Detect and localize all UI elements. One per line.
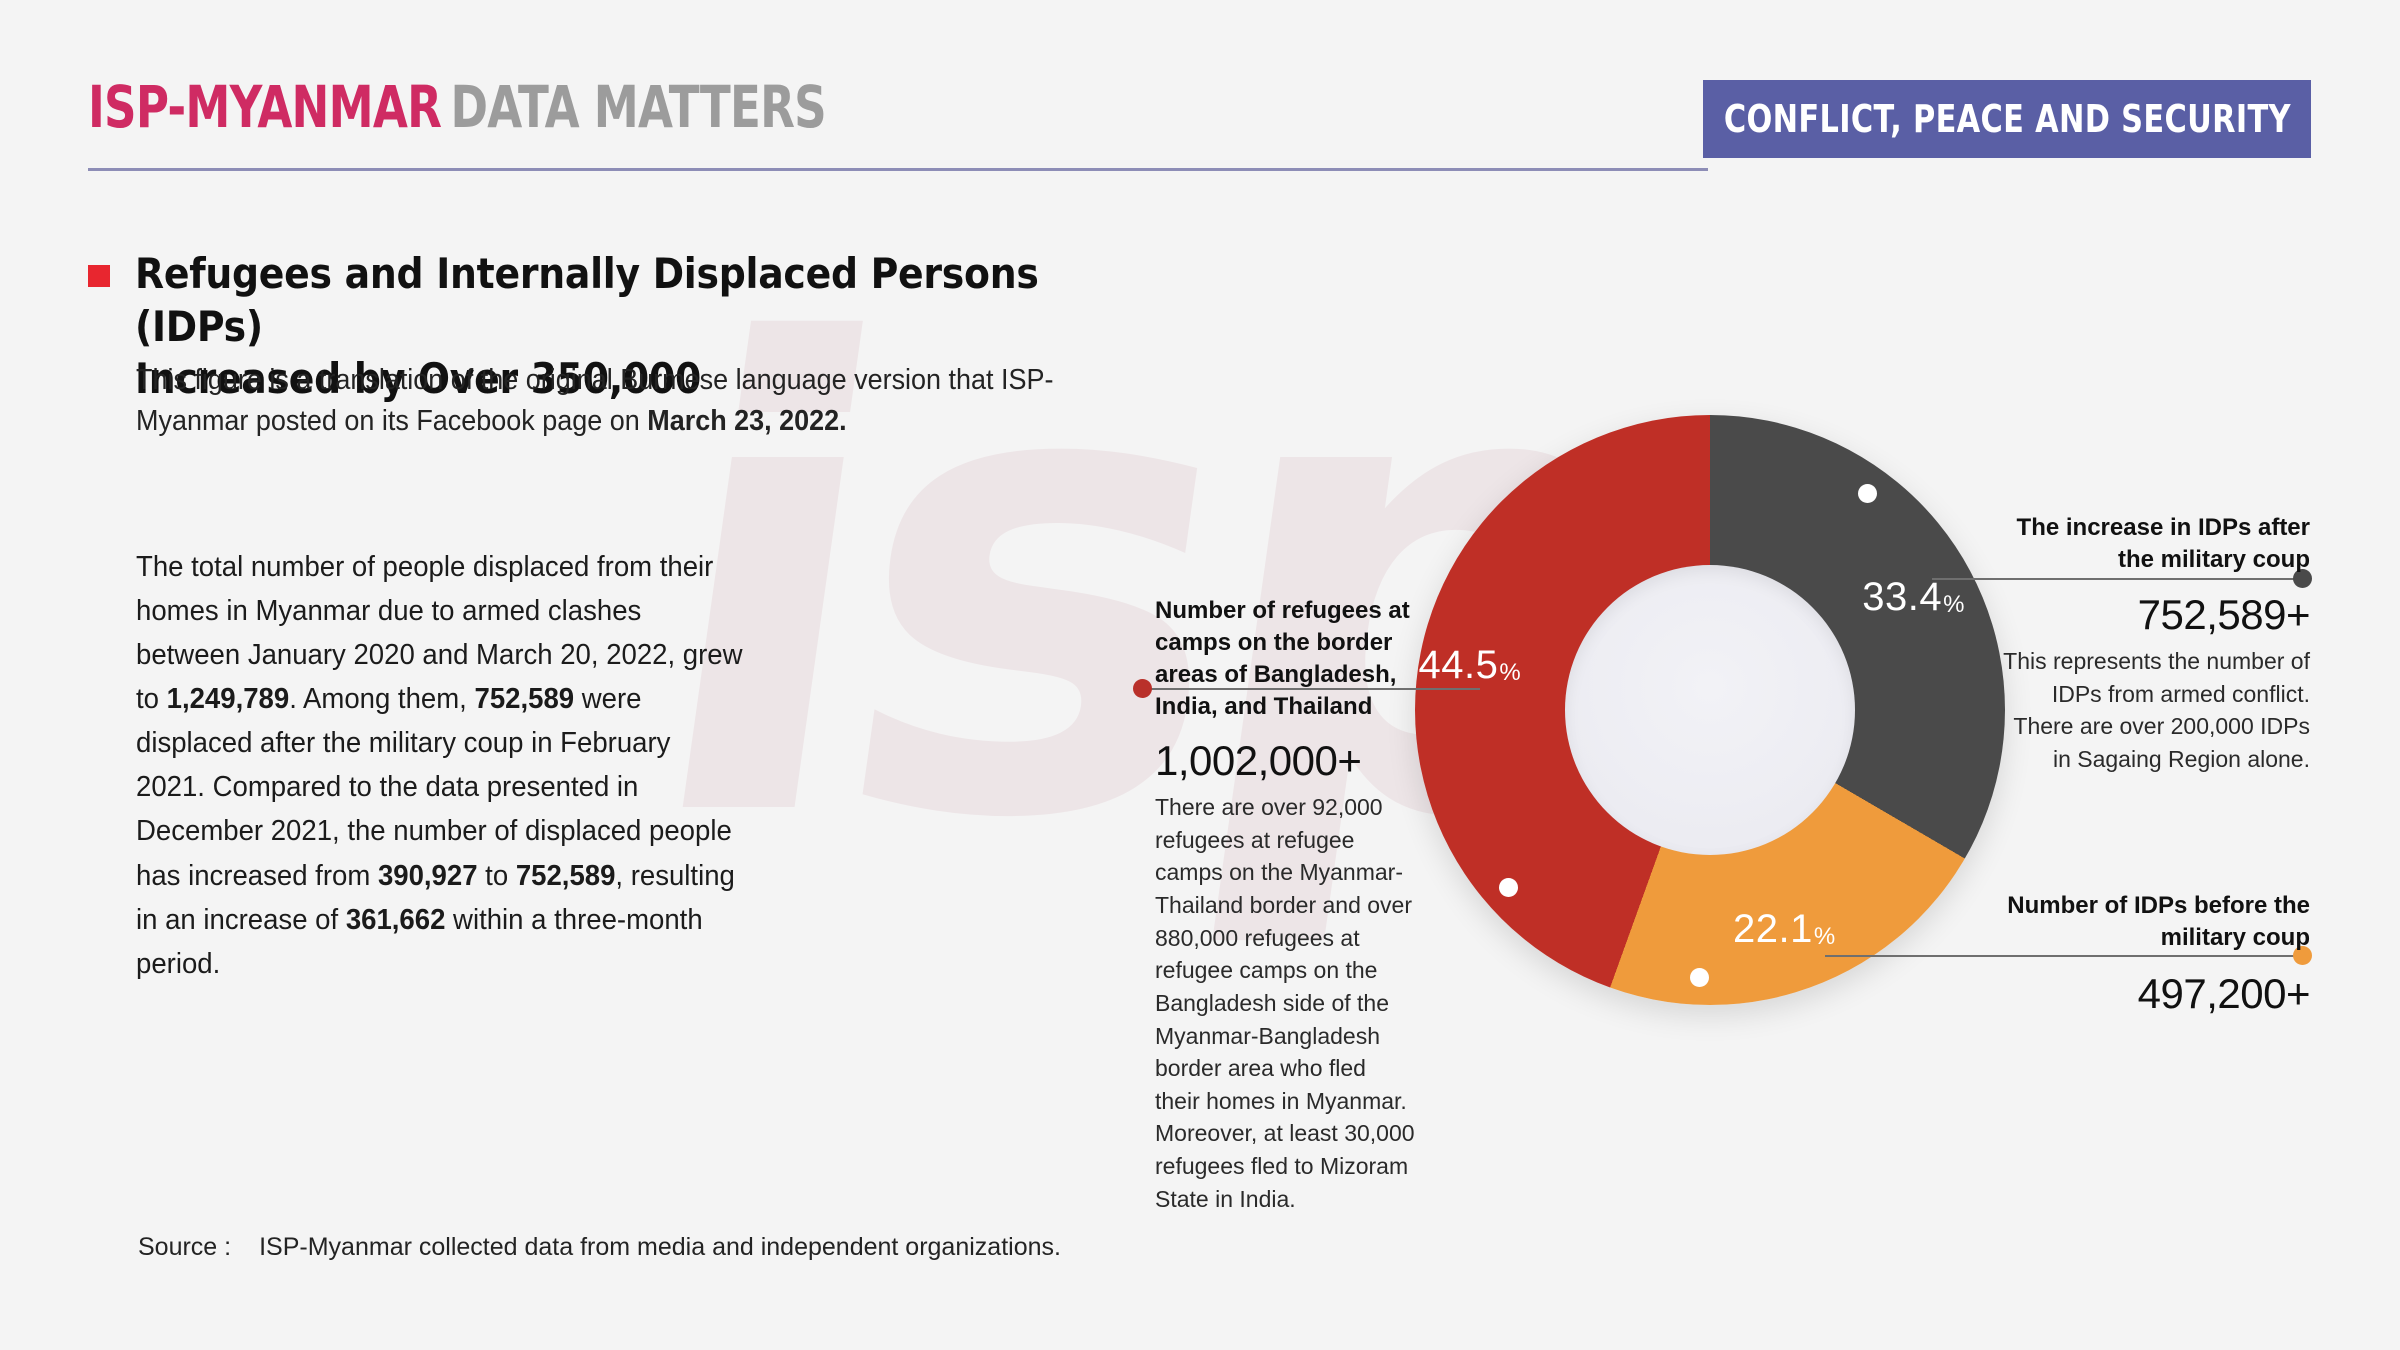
brand-primary: ISP-MYANMAR xyxy=(88,73,441,141)
percent-sign: % xyxy=(1814,923,1836,950)
callout-idp-before-coup: Number of IDPs before the military coup … xyxy=(1990,890,2310,1018)
body-number-increase: 361,662 xyxy=(346,904,446,936)
callout-right-top-value: 752,589+ xyxy=(1990,591,2310,639)
body-text-4: to xyxy=(478,860,516,892)
slice-label-dark: 33.4% xyxy=(1862,575,1965,620)
category-banner-label: CONFLICT, PEACE AND SECURITY xyxy=(1724,97,2291,141)
callout-left-value: 1,002,000+ xyxy=(1155,737,1415,785)
body-number-december: 390,927 xyxy=(378,860,478,892)
body-text-2: . Among them, xyxy=(289,683,474,715)
slice-value: 44.5 xyxy=(1419,643,1499,687)
callout-right-bottom-heading: Number of IDPs before the military coup xyxy=(1990,890,2310,954)
callout-left-heading: Number of refugees at camps on the borde… xyxy=(1155,595,1415,723)
page-title-line-1: Refugees and Internally Displaced Person… xyxy=(135,248,1170,353)
slice-node-orange xyxy=(1690,968,1709,987)
donut-chart: 33.4% 22.1% 44.5% xyxy=(1415,415,2005,1005)
category-banner: CONFLICT, PEACE AND SECURITY xyxy=(1703,80,2311,158)
slice-label-red: 44.5% xyxy=(1419,643,1522,688)
body-paragraph: The total number of people displaced fro… xyxy=(136,545,744,986)
slice-value: 33.4 xyxy=(1862,575,1942,619)
page-subtitle: This figure is a translation of the orig… xyxy=(136,360,1113,442)
brand-logo: ISP-MYANMARDATA MATTERS xyxy=(88,78,826,136)
body-number-march: 752,589 xyxy=(516,860,616,892)
body-number-total: 1,249,789 xyxy=(167,683,290,715)
percent-sign: % xyxy=(1499,659,1521,686)
donut-center-hole xyxy=(1565,565,1855,855)
subtitle-text: This figure is a translation of the orig… xyxy=(136,364,1053,437)
header-divider xyxy=(88,168,1708,171)
percent-sign: % xyxy=(1943,591,1965,618)
callout-right-top-heading: The increase in IDPs after the military … xyxy=(1990,512,2310,576)
callout-idp-increase: The increase in IDPs after the military … xyxy=(1990,512,2310,776)
slice-node-red xyxy=(1499,878,1518,897)
body-number-post-coup: 752,589 xyxy=(474,683,574,715)
callout-right-top-body: This represents the number of IDPs from … xyxy=(1990,645,2310,776)
brand-secondary: DATA MATTERS xyxy=(451,73,826,141)
source-footer: Source :ISP-Myanmar collected data from … xyxy=(138,1233,1061,1262)
callout-refugees-camps: Number of refugees at camps on the borde… xyxy=(1155,595,1415,1215)
source-text: ISP-Myanmar collected data from media an… xyxy=(259,1233,1061,1261)
title-bullet-icon xyxy=(88,265,110,287)
callout-left-body: There are over 92,000 refugees at refuge… xyxy=(1155,791,1415,1216)
subtitle-date: March 23, 2022. xyxy=(647,405,846,437)
callout-right-bottom-value: 497,200+ xyxy=(1990,970,2310,1018)
slice-label-orange: 22.1% xyxy=(1733,907,1836,952)
slice-value: 22.1 xyxy=(1733,907,1813,951)
source-label: Source : xyxy=(138,1233,231,1261)
connector-dot-left-red xyxy=(1133,679,1152,698)
